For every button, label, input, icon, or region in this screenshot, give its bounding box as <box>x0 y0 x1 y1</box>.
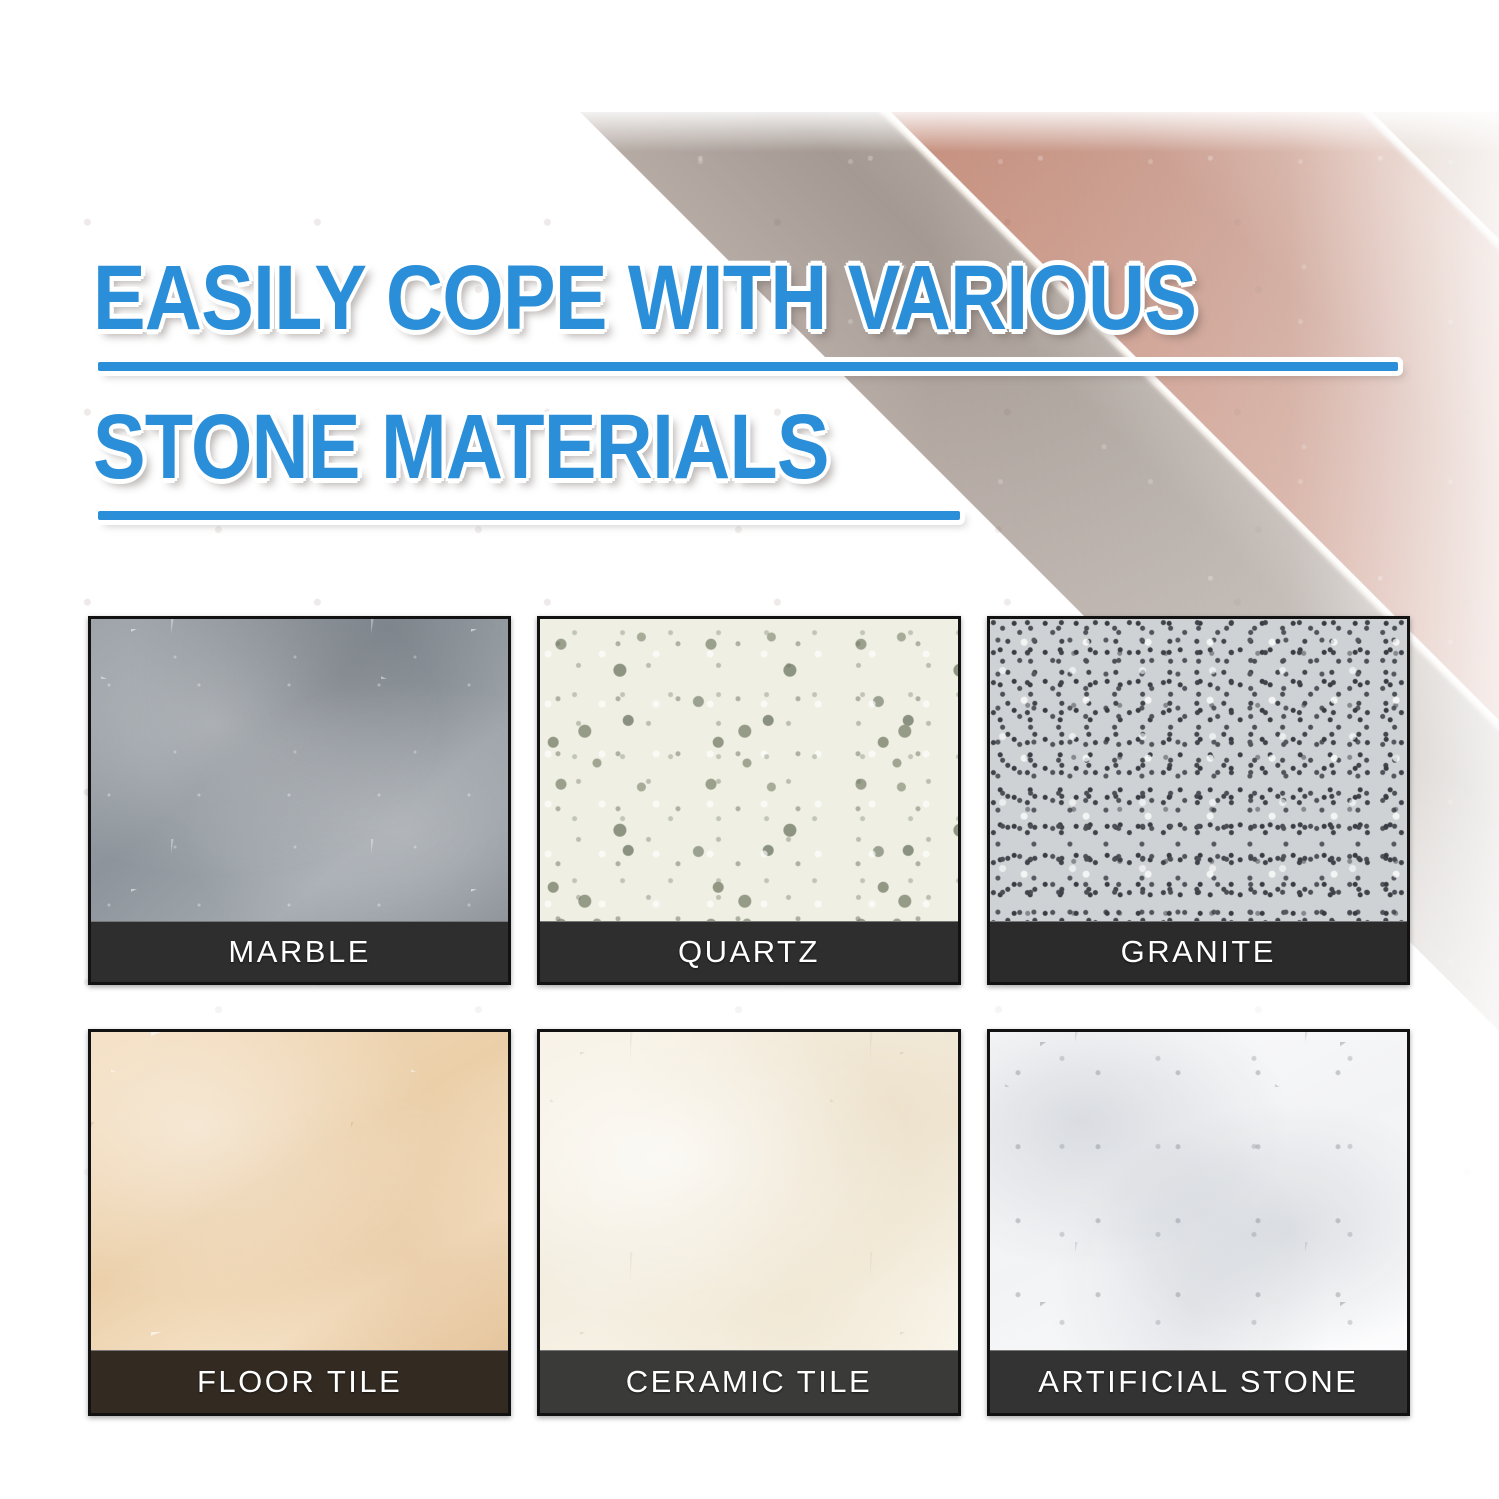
caption-bar-ceramic-tile: CERAMIC TILE <box>540 1351 957 1413</box>
swatch-quartz <box>540 619 957 922</box>
stone-card-floor-tile[interactable]: FLOOR TILE <box>88 1029 511 1416</box>
stone-label-floor-tile: FLOOR TILE <box>197 1364 402 1400</box>
caption-bar-granite: GRANITE <box>990 922 1407 982</box>
swatch-artificial-stone <box>990 1032 1407 1351</box>
headline-rule-2 <box>98 511 960 520</box>
swatch-floor-tile <box>91 1032 508 1351</box>
headline-line-1: EASILY COPE WITH VARIOUS <box>0 250 1289 346</box>
stone-label-quartz: QUARTZ <box>678 934 820 970</box>
stone-card-granite[interactable]: GRANITE <box>987 616 1410 985</box>
headline-line-2: STONE MATERIALS <box>0 399 1289 495</box>
stone-card-marble[interactable]: MARBLE <box>88 616 511 985</box>
texture-marble <box>91 619 508 921</box>
swatch-marble <box>91 619 508 922</box>
stone-card-artificial-stone[interactable]: ARTIFICIAL STONE <box>987 1029 1410 1416</box>
caption-bar-artificial-stone: ARTIFICIAL STONE <box>990 1351 1407 1413</box>
caption-bar-marble: MARBLE <box>91 922 508 982</box>
caption-bar-floor-tile: FLOOR TILE <box>91 1351 508 1413</box>
stone-label-ceramic-tile: CERAMIC TILE <box>626 1364 872 1400</box>
caption-bar-quartz: QUARTZ <box>540 922 957 982</box>
texture-quartz <box>540 619 957 921</box>
stone-sample-grid: MARBLE QUARTZ GRANITE FLOOR TILE CERAMIC <box>88 616 1410 1416</box>
texture-artificial-stone <box>990 1032 1407 1350</box>
stone-label-marble: MARBLE <box>228 934 370 970</box>
stone-label-granite: GRANITE <box>1121 934 1276 970</box>
texture-granite <box>990 619 1407 921</box>
stone-card-quartz[interactable]: QUARTZ <box>537 616 960 985</box>
texture-floor-tile <box>91 1032 508 1350</box>
swatch-ceramic-tile <box>540 1032 957 1351</box>
headline-rule-1 <box>98 362 1398 371</box>
swatch-granite <box>990 619 1407 922</box>
texture-ceramic-tile <box>540 1032 957 1350</box>
stone-card-ceramic-tile[interactable]: CERAMIC TILE <box>537 1029 960 1416</box>
headline-block: EASILY COPE WITH VARIOUS STONE MATERIALS <box>0 250 1499 546</box>
stone-label-artificial-stone: ARTIFICIAL STONE <box>1038 1364 1358 1400</box>
